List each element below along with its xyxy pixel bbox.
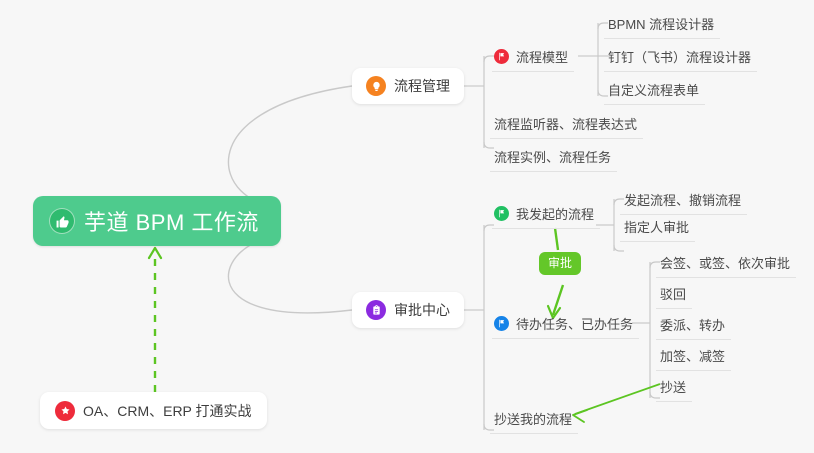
mindmap-canvas: 芋道 BPM 工作流 流程管理 流程模型 BPMN 流程设计器 钉钉（飞书）流程… (0, 0, 814, 453)
integration-node[interactable]: OA、CRM、ERP 打通实战 (40, 392, 267, 429)
leaf-label: 抄送 (660, 377, 686, 396)
leaf-assigned-approver[interactable]: 指定人审批 (620, 214, 695, 242)
leaf-dingtalk-feishu-designer[interactable]: 钉钉（飞书）流程设计器 (604, 44, 757, 72)
leaf-label: 加签、减签 (660, 346, 725, 365)
leaf-label: 钉钉（飞书）流程设计器 (608, 47, 751, 66)
link-root-to-process-management (228, 86, 352, 207)
branch-label-approval-center: 审批中心 (394, 300, 450, 320)
thumbs-up-icon (49, 208, 75, 234)
leaf-label: 流程监听器、流程表达式 (494, 114, 637, 133)
leaf-label: 驳回 (660, 284, 686, 303)
leaf-label: 流程实例、流程任务 (494, 147, 611, 166)
leaf-label: 流程模型 (516, 47, 568, 66)
clipboard-icon (366, 300, 386, 320)
leaf-label: 指定人审批 (624, 217, 689, 236)
leaf-cc[interactable]: 抄送 (656, 374, 692, 402)
leaf-label: 待办任务、已办任务 (516, 314, 633, 333)
leaf-label: 我发起的流程 (516, 204, 594, 223)
link-root-to-approval-center (228, 236, 352, 313)
leaf-label: 发起流程、撤销流程 (624, 190, 741, 209)
leaf-process-listener-expression[interactable]: 流程监听器、流程表达式 (490, 111, 643, 139)
branch-node-approval-center[interactable]: 审批中心 (352, 292, 464, 328)
leaf-label: 自定义流程表单 (608, 80, 699, 99)
leaf-custom-form[interactable]: 自定义流程表单 (604, 77, 705, 105)
arrow-cc-to-my-cc-flows (575, 384, 660, 414)
leaf-process-model[interactable]: 流程模型 (492, 44, 574, 72)
flag-icon (494, 49, 509, 64)
integration-node-label: OA、CRM、ERP 打通实战 (83, 401, 252, 421)
root-node[interactable]: 芋道 BPM 工作流 (33, 196, 281, 246)
branch-label-process-management: 流程管理 (394, 76, 450, 96)
lightbulb-icon (366, 76, 386, 96)
leaf-label: 委派、转办 (660, 315, 725, 334)
leaf-add-remove-sign[interactable]: 加签、减签 (656, 343, 731, 371)
leaf-delegate-transfer[interactable]: 委派、转办 (656, 312, 731, 340)
leaf-label: 会签、或签、依次审批 (660, 253, 790, 272)
leaf-bpmn-designer[interactable]: BPMN 流程设计器 (604, 11, 720, 39)
leaf-todo-done-tasks[interactable]: 待办任务、已办任务 (492, 311, 639, 339)
approval-tag-label: 审批 (548, 256, 572, 270)
leaf-reject[interactable]: 驳回 (656, 281, 692, 309)
leaf-label: 抄送我的流程 (494, 409, 572, 428)
root-label: 芋道 BPM 工作流 (84, 205, 259, 237)
leaf-process-instance-task[interactable]: 流程实例、流程任务 (490, 144, 617, 172)
leaf-start-cancel-flow[interactable]: 发起流程、撤销流程 (620, 187, 747, 215)
leaf-flows-cc-to-me[interactable]: 抄送我的流程 (490, 406, 578, 434)
bracket-my-flows-bottom-corner (614, 245, 624, 251)
leaf-my-initiated-flows[interactable]: 我发起的流程 (492, 201, 600, 229)
star-icon (55, 401, 75, 421)
leaf-label: BPMN 流程设计器 (608, 14, 714, 33)
flag-icon (494, 206, 509, 221)
arrow-my-flows-to-approval-tag (555, 228, 558, 250)
branch-node-process-management[interactable]: 流程管理 (352, 68, 464, 104)
leaf-countersign-modes[interactable]: 会签、或签、依次审批 (656, 250, 796, 278)
arrowhead-integration-to-root (149, 248, 161, 258)
flag-icon (494, 316, 509, 331)
approval-tag[interactable]: 审批 (539, 252, 581, 275)
